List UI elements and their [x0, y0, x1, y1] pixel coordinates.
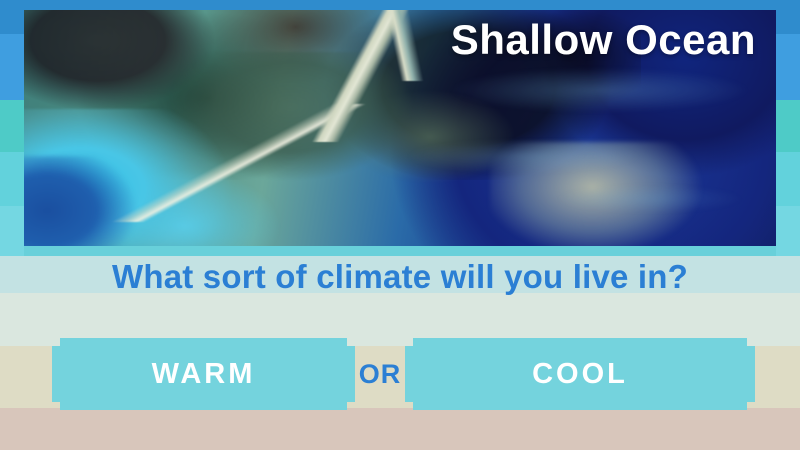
- photo-title: Shallow Ocean: [451, 16, 756, 64]
- answer-row: WARM OR COOL: [0, 338, 800, 410]
- frame-segment-4: [776, 152, 800, 206]
- frame-segment-4: [0, 152, 24, 206]
- frame-segment-1: [0, 0, 24, 34]
- frame-segment-2: [776, 34, 800, 100]
- frame-segment-1: [776, 0, 800, 34]
- answer-separator-or: OR: [355, 359, 405, 390]
- answer-button-warm[interactable]: WARM: [52, 338, 355, 410]
- question-text: What sort of climate will you live in?: [0, 258, 800, 296]
- frame-strip-left: [0, 0, 24, 256]
- band-teal: [0, 246, 800, 256]
- frame-segment-2: [0, 34, 24, 100]
- band-top-blue: [0, 0, 800, 10]
- frame-strip-right: [776, 0, 800, 256]
- frame-segment-3: [0, 100, 24, 152]
- frame-segment-5: [0, 206, 24, 256]
- band-rose: [0, 408, 800, 450]
- frame-segment-3: [776, 100, 800, 152]
- satellite-photo: Shallow Ocean: [24, 10, 776, 246]
- answer-button-cool[interactable]: COOL: [405, 338, 755, 410]
- frame-segment-5: [776, 206, 800, 256]
